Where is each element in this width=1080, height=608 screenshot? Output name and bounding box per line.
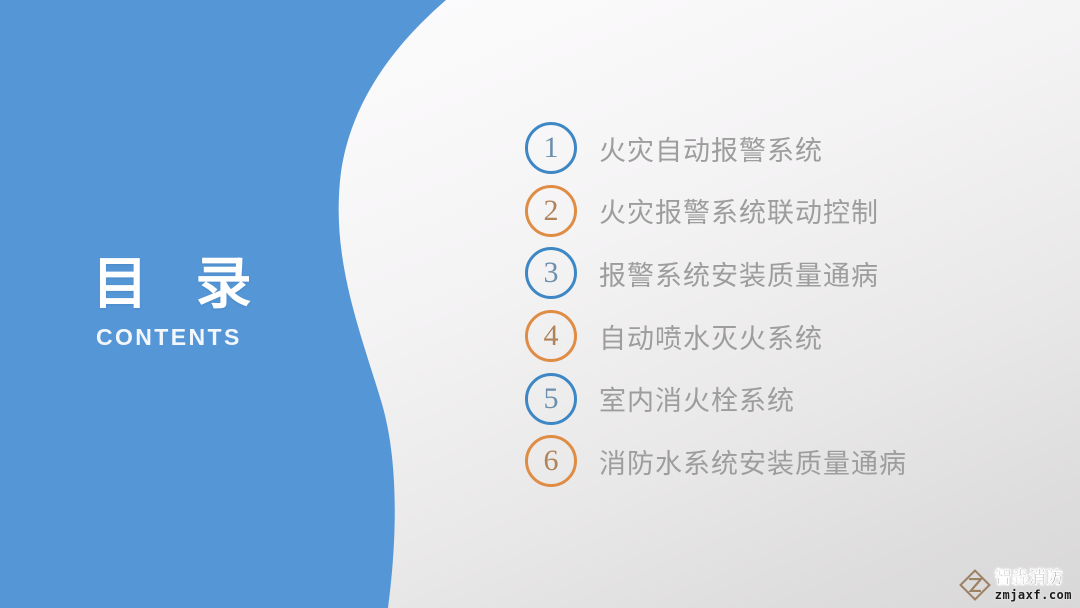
contents-item-4[interactable]: 4 自动喷水灭火系统 [525,305,995,368]
watermark: 智淼消防 zmjaxf.com [958,568,1072,602]
contents-item-6[interactable]: 6 消防水系统安装质量通病 [525,430,995,493]
contents-label-3: 报警系统安装质量通病 [599,254,879,293]
contents-number-badge-4: 4 [525,310,577,362]
contents-number-badge-6: 6 [525,435,577,487]
contents-number-badge-3: 3 [525,247,577,299]
contents-number-badge-2: 2 [525,185,577,237]
page-title: 目 录 [92,252,352,316]
title-block: 目 录 CONTENTS [92,252,352,350]
contents-label-1: 火灾自动报警系统 [599,129,823,168]
contents-item-1[interactable]: 1 火灾自动报警系统 [525,117,995,180]
diamond-z-logo-icon [958,568,992,602]
watermark-text: 智淼消防 zmjaxf.com [995,569,1072,601]
contents-label-5: 室内消火栓系统 [599,379,795,418]
contents-label-2: 火灾报警系统联动控制 [599,191,879,230]
contents-item-3[interactable]: 3 报警系统安装质量通病 [525,242,995,305]
contents-list: 1 火灾自动报警系统 2 火灾报警系统联动控制 3 报警系统安装质量通病 4 自… [525,117,995,493]
contents-label-4: 自动喷水灭火系统 [599,317,823,356]
contents-number-badge-5: 5 [525,373,577,425]
page-subtitle: CONTENTS [96,324,352,350]
contents-item-2[interactable]: 2 火灾报警系统联动控制 [525,180,995,243]
contents-item-5[interactable]: 5 室内消火栓系统 [525,367,995,430]
contents-slide: 目 录 CONTENTS 1 火灾自动报警系统 2 火灾报警系统联动控制 3 报… [0,0,1080,608]
contents-label-6: 消防水系统安装质量通病 [599,442,907,481]
watermark-url: zmjaxf.com [995,589,1072,601]
watermark-brand-name: 智淼消防 [995,569,1072,586]
contents-number-badge-1: 1 [525,122,577,174]
